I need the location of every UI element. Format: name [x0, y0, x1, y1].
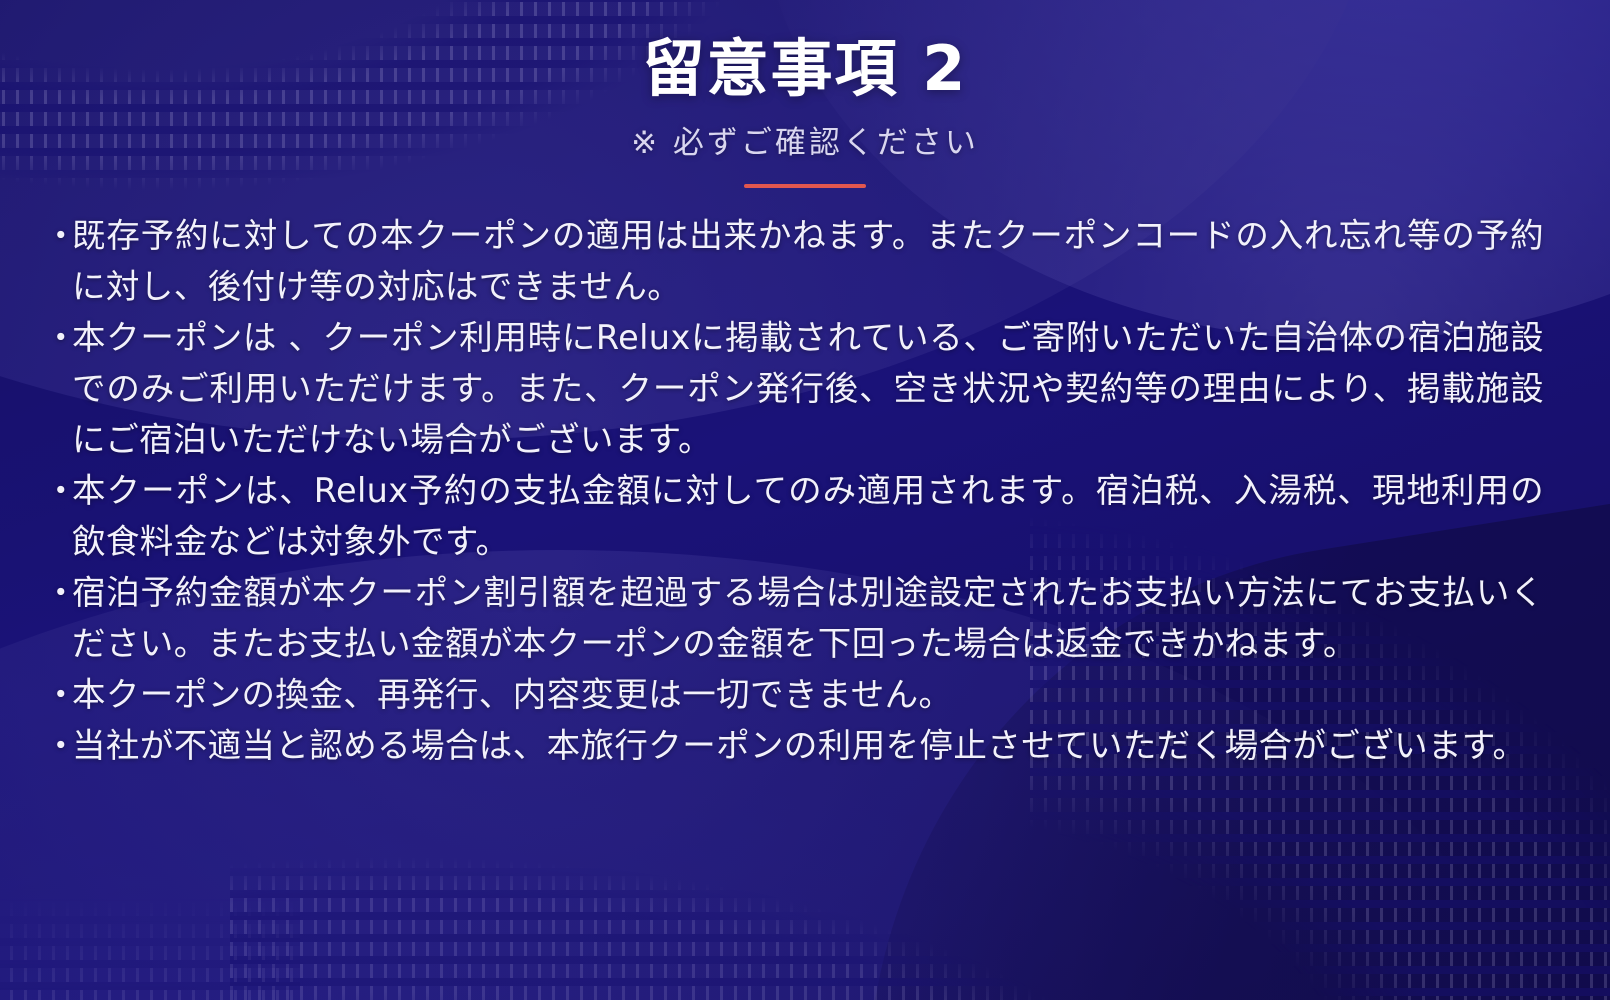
list-item-text: 宿泊予約金額が本クーポン割引額を超過する場合は別途設定されたお支払い方法にてお支… — [72, 568, 1544, 670]
background-stripes-bottom-center — [230, 810, 1130, 1000]
page-subtitle: ※ 必ずご確認ください — [0, 117, 1610, 162]
page-title: 留意事項 2 — [0, 34, 1610, 103]
list-item-text: 本クーポンの換金、再発行、内容変更は一切できません。 — [72, 670, 1544, 721]
bullet-icon: ・ — [44, 568, 72, 619]
list-item: ・本クーポンの換金、再発行、内容変更は一切できません。 — [44, 670, 1544, 721]
list-item-text: 当社が不適当と認める場合は、本旅行クーポンの利用を停止させていただく場合がござい… — [72, 721, 1544, 772]
title-divider — [744, 184, 866, 188]
bullet-icon: ・ — [44, 466, 72, 517]
background-stripes-bottom-left — [0, 880, 300, 1000]
bullet-icon: ・ — [44, 721, 72, 772]
list-item: ・当社が不適当と認める場合は、本旅行クーポンの利用を停止させていただく場合がござ… — [44, 721, 1544, 772]
list-item: ・既存予約に対しての本クーポンの適用は出来かねます。またクーポンコードの入れ忘れ… — [44, 211, 1544, 313]
list-item-text: 既存予約に対しての本クーポンの適用は出来かねます。またクーポンコードの入れ忘れ等… — [72, 211, 1544, 313]
bullet-icon: ・ — [44, 211, 72, 262]
notes-list: ・既存予約に対しての本クーポンの適用は出来かねます。またクーポンコードの入れ忘れ… — [0, 211, 1610, 771]
slide-root: 留意事項 2 ※ 必ずご確認ください ・既存予約に対しての本クーポンの適用は出来… — [0, 0, 1610, 1000]
list-item-text: 本クーポンは、Relux予約の支払金額に対してのみ適用されます。宿泊税、入湯税、… — [72, 466, 1544, 568]
bullet-icon: ・ — [44, 313, 72, 364]
list-item-text: 本クーポンは 、クーポン利用時にReluxに掲載されている、ご寄附いただいた自治… — [72, 313, 1544, 466]
list-item: ・本クーポンは、Relux予約の支払金額に対してのみ適用されます。宿泊税、入湯税… — [44, 466, 1544, 568]
list-item: ・宿泊予約金額が本クーポン割引額を超過する場合は別途設定されたお支払い方法にてお… — [44, 568, 1544, 670]
header: 留意事項 2 ※ 必ずご確認ください — [0, 0, 1610, 188]
bullet-icon: ・ — [44, 670, 72, 721]
list-item: ・本クーポンは 、クーポン利用時にReluxに掲載されている、ご寄附いただいた自… — [44, 313, 1544, 466]
